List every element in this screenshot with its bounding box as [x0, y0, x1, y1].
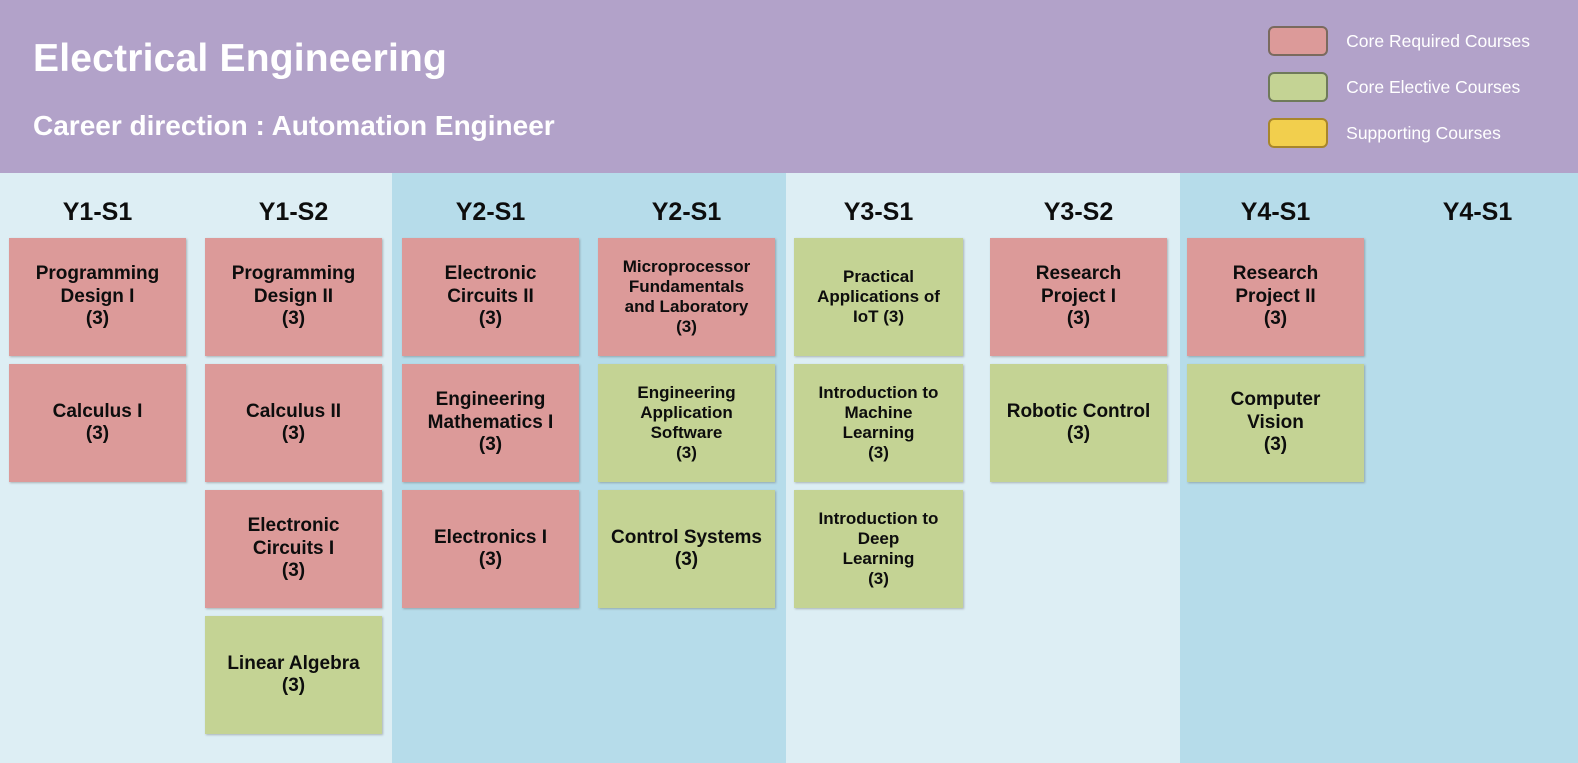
- course-card[interactable]: Research Project II (3): [1187, 238, 1364, 356]
- course-card-list: Microprocessor Fundamentals and Laborato…: [598, 238, 775, 616]
- course-card-label: Calculus I (3): [53, 401, 143, 446]
- course-card[interactable]: Programming Design II (3): [205, 238, 382, 356]
- course-card-label: Introduction to Machine Learning (3): [819, 383, 939, 463]
- course-card[interactable]: Engineering Mathematics I (3): [402, 364, 579, 482]
- course-card[interactable]: Linear Algebra (3): [205, 616, 382, 734]
- course-card[interactable]: Practical Applications of IoT (3): [794, 238, 963, 356]
- legend-label: Core Required Courses: [1346, 31, 1530, 52]
- course-card-label: Electronics I (3): [434, 527, 547, 572]
- course-card-label: Calculus II (3): [246, 401, 341, 446]
- course-card[interactable]: Introduction to Machine Learning (3): [794, 364, 963, 482]
- legend: Core Required CoursesCore Elective Cours…: [1268, 18, 1530, 156]
- course-card-label: Programming Design II (3): [232, 263, 356, 330]
- semester-column-y2-s1-3: Y2-S1Electronic Circuits II (3)Engineeri…: [402, 173, 579, 763]
- semester-column-y1-s2-2: Y1-S2Programming Design II (3)Calculus I…: [205, 173, 382, 763]
- course-card-label: Research Project II (3): [1233, 263, 1319, 330]
- course-card-list: Programming Design II (3)Calculus II (3)…: [205, 238, 382, 742]
- semester-columns: Y1-S1Programming Design I (3)Calculus I …: [0, 173, 1578, 763]
- course-card-label: Computer Vision (3): [1231, 389, 1321, 456]
- semester-column-y1-s1-1: Y1-S1Programming Design I (3)Calculus I …: [9, 173, 186, 763]
- course-card[interactable]: Programming Design I (3): [9, 238, 186, 356]
- semester-column-y3-s2-6: Y3-S2Research Project I (3)Robotic Contr…: [990, 173, 1167, 763]
- course-card-label: Practical Applications of IoT (3): [817, 267, 940, 327]
- semester-header: Y2-S1: [598, 198, 775, 227]
- course-card[interactable]: Research Project I (3): [990, 238, 1167, 356]
- header-bar: Electrical Engineering Career direction …: [0, 0, 1578, 173]
- career-direction-subtitle: Career direction : Automation Engineer: [33, 110, 555, 142]
- course-card-label: Electronic Circuits I (3): [248, 515, 340, 582]
- course-card[interactable]: Electronics I (3): [402, 490, 579, 608]
- course-card-label: Introduction to Deep Learning (3): [819, 509, 939, 589]
- course-card-label: Linear Algebra (3): [227, 653, 359, 698]
- course-card-list: Electronic Circuits II (3)Engineering Ma…: [402, 238, 579, 616]
- legend-label: Core Elective Courses: [1346, 77, 1520, 98]
- course-card-list: Programming Design I (3)Calculus I (3): [9, 238, 186, 490]
- course-card[interactable]: Calculus II (3): [205, 364, 382, 482]
- semester-column-y4-s1-7: Y4-S1Research Project II (3)Computer Vis…: [1187, 173, 1364, 763]
- legend-label: Supporting Courses: [1346, 123, 1501, 144]
- legend-swatch-icon: [1268, 26, 1328, 56]
- course-card-label: Programming Design I (3): [36, 263, 160, 330]
- course-card-list: Research Project I (3)Robotic Control (3…: [990, 238, 1167, 490]
- legend-swatch-icon: [1268, 72, 1328, 102]
- legend-swatch-icon: [1268, 118, 1328, 148]
- legend-item: Core Elective Courses: [1268, 64, 1530, 110]
- course-card[interactable]: Robotic Control (3): [990, 364, 1167, 482]
- course-card-label: Control Systems (3): [611, 527, 762, 572]
- course-card[interactable]: Electronic Circuits I (3): [205, 490, 382, 608]
- course-card-label: Microprocessor Fundamentals and Laborato…: [623, 257, 751, 337]
- course-card[interactable]: Computer Vision (3): [1187, 364, 1364, 482]
- semester-header: Y1-S1: [9, 198, 186, 227]
- semester-header: Y3-S1: [794, 198, 963, 227]
- course-card[interactable]: Electronic Circuits II (3): [402, 238, 579, 356]
- semester-column-y4-s1-8: Y4-S1: [1389, 173, 1566, 763]
- course-card[interactable]: Microprocessor Fundamentals and Laborato…: [598, 238, 775, 356]
- course-card[interactable]: Control Systems (3): [598, 490, 775, 608]
- course-card[interactable]: Introduction to Deep Learning (3): [794, 490, 963, 608]
- course-card-label: Engineering Mathematics I (3): [428, 389, 554, 456]
- course-card[interactable]: Engineering Application Software (3): [598, 364, 775, 482]
- semester-header: Y3-S2: [990, 198, 1167, 227]
- course-card-label: Electronic Circuits II (3): [445, 263, 537, 330]
- course-card-list: Research Project II (3)Computer Vision (…: [1187, 238, 1364, 490]
- legend-item: Core Required Courses: [1268, 18, 1530, 64]
- semester-column-y3-s1-5: Y3-S1Practical Applications of IoT (3)In…: [794, 173, 963, 763]
- legend-item: Supporting Courses: [1268, 110, 1530, 156]
- semester-column-y2-s1-4: Y2-S1Microprocessor Fundamentals and Lab…: [598, 173, 775, 763]
- semester-header: Y4-S1: [1389, 198, 1566, 227]
- course-card-label: Robotic Control (3): [1007, 401, 1151, 446]
- page-title: Electrical Engineering: [33, 37, 447, 81]
- semester-header: Y2-S1: [402, 198, 579, 227]
- semester-header: Y1-S2: [205, 198, 382, 227]
- course-card-list: Practical Applications of IoT (3)Introdu…: [794, 238, 963, 616]
- course-card-label: Engineering Application Software (3): [637, 383, 735, 463]
- course-card-label: Research Project I (3): [1036, 263, 1122, 330]
- curriculum-roadmap: Y1-S1Programming Design I (3)Calculus I …: [0, 0, 1578, 763]
- course-card[interactable]: Calculus I (3): [9, 364, 186, 482]
- semester-header: Y4-S1: [1187, 198, 1364, 227]
